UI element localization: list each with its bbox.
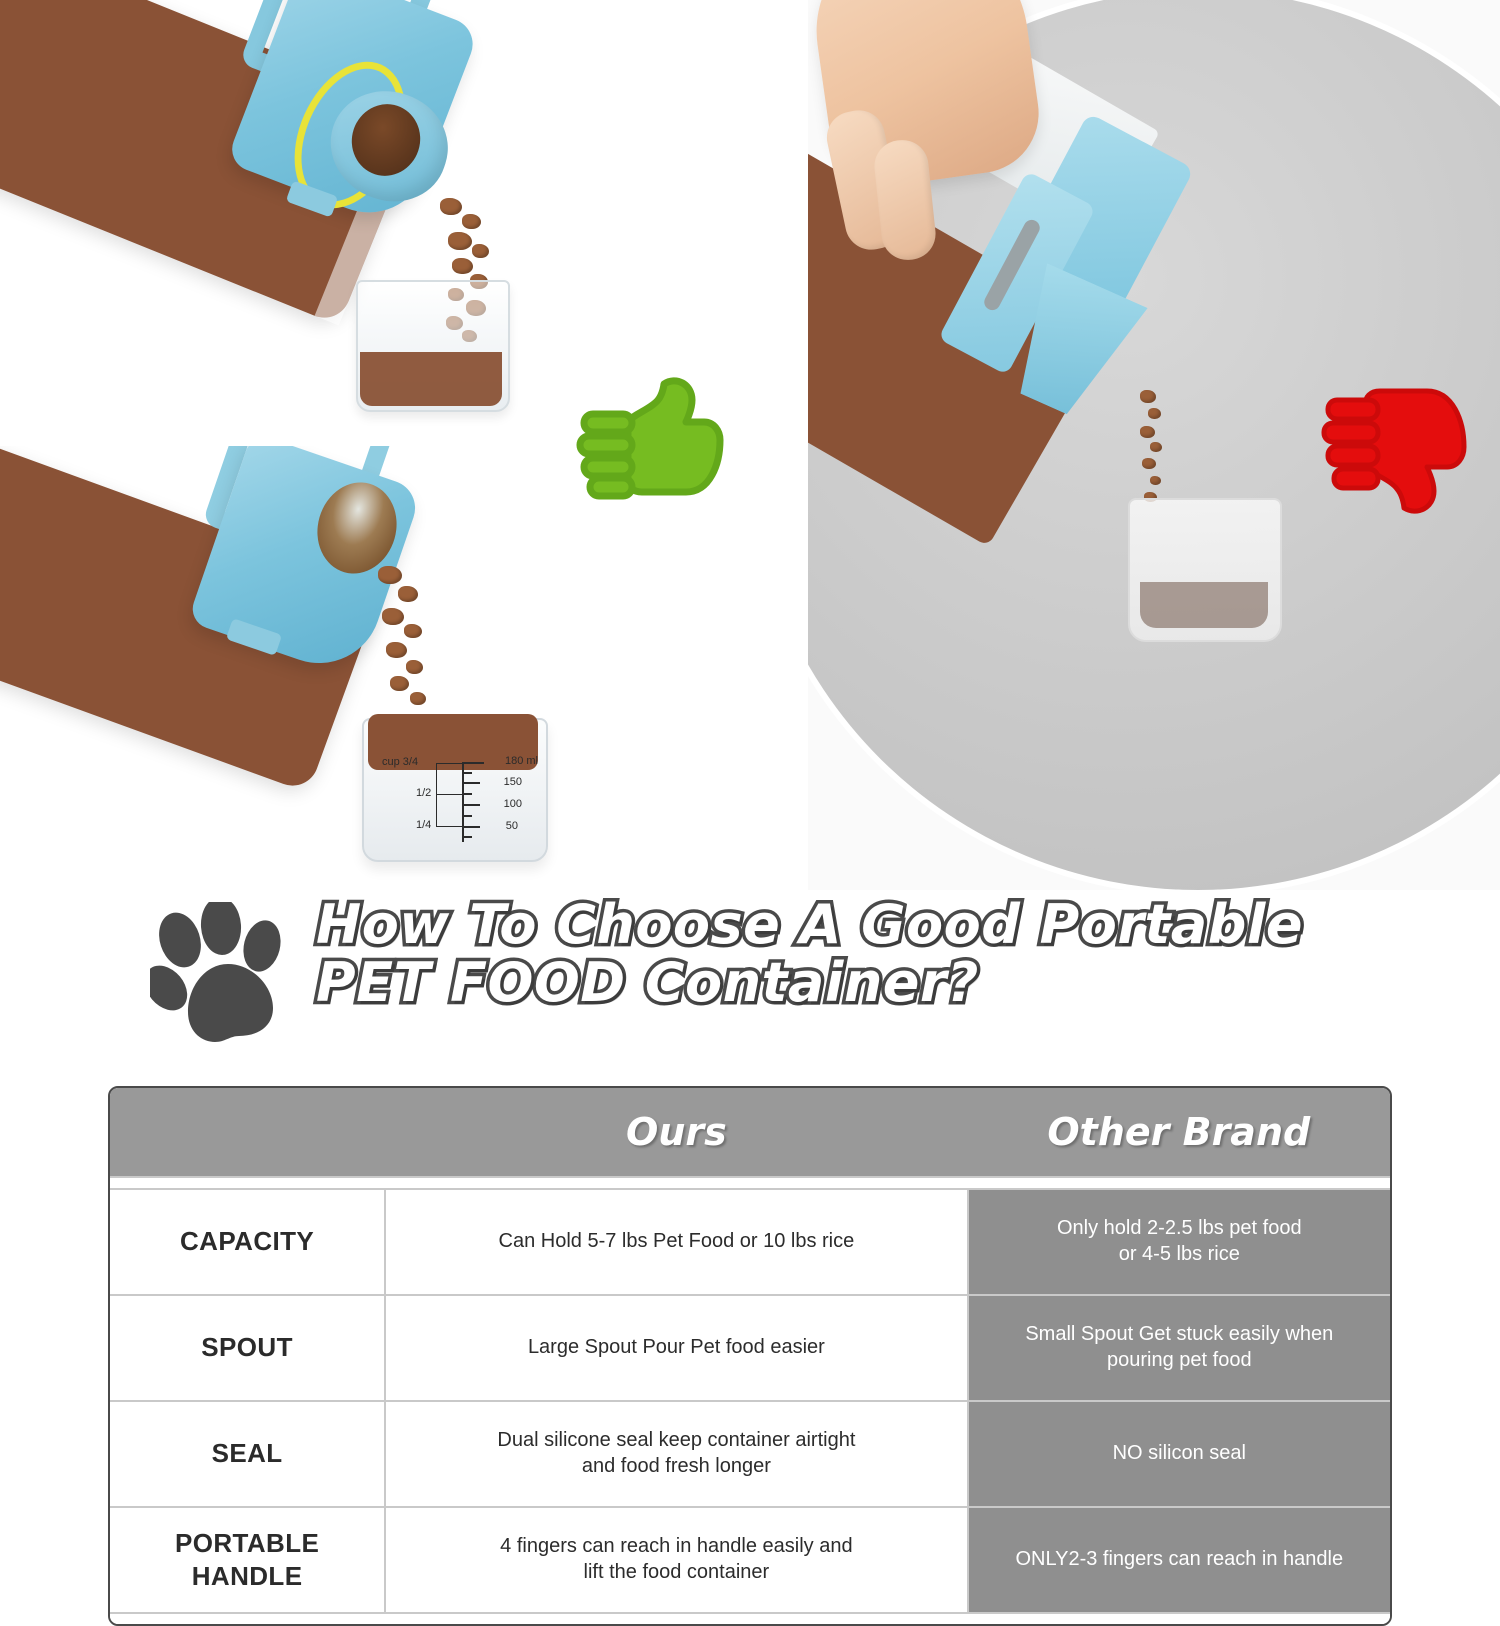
scale-label-180ml: 180 ml <box>505 755 538 767</box>
headline-text: How To Choose A Good Portable PET FOOD C… <box>316 896 1436 1013</box>
row-other-capacity: Only hold 2-2.5 lbs pet foodor 4-5 lbs r… <box>968 1189 1390 1295</box>
measuring-cup-scale: cup 3/4 1/2 1/4 180 ml 150 100 50 <box>388 758 538 846</box>
scale-label-100: 100 <box>504 798 522 810</box>
row-ours-portable-handle: 4 fingers can reach in handle easily and… <box>385 1507 967 1613</box>
paw-print-icon <box>150 902 300 1042</box>
table-row: SEAL Dual silicone seal keep container a… <box>110 1401 1390 1507</box>
row-other-spout: Small Spout Get stuck easily whenpouring… <box>968 1295 1390 1401</box>
table-row: PORTABLEHANDLE 4 fingers can reach in ha… <box>110 1507 1390 1613</box>
scale-label-half: 1/2 <box>416 787 431 799</box>
scale-label-150: 150 <box>504 776 522 788</box>
thumbs-down-icon <box>1318 372 1478 520</box>
row-other-portable-handle: ONLY2-3 fingers can reach in handle <box>968 1507 1390 1613</box>
row-ours-seal: Dual silicone seal keep container airtig… <box>385 1401 967 1507</box>
header-ours: Ours <box>385 1088 967 1177</box>
table-row: SPOUT Large Spout Pour Pet food easier S… <box>110 1295 1390 1401</box>
header-gap <box>110 1177 1390 1189</box>
row-feature-capacity: CAPACITY <box>110 1189 385 1295</box>
thumbs-up-icon <box>572 372 732 502</box>
section-title: How To Choose A Good Portable PET FOOD C… <box>0 892 1500 1072</box>
row-feature-portable-handle: PORTABLEHANDLE <box>110 1507 385 1613</box>
table-row: CAPACITY Can Hold 5-7 lbs Pet Food or 10… <box>110 1189 1390 1295</box>
header-blank <box>110 1088 385 1177</box>
row-feature-seal: SEAL <box>110 1401 385 1507</box>
photo-ours-pouring-into-cup <box>0 0 800 436</box>
row-ours-spout: Large Spout Pour Pet food easier <box>385 1295 967 1401</box>
scale-label-quarter: 1/4 <box>416 819 431 831</box>
panel-divider-vertical <box>790 0 804 890</box>
table-bottom-edge <box>110 1613 1390 1624</box>
cup-kibble <box>360 352 502 406</box>
other-cup-kibble <box>1140 582 1268 628</box>
header-other-brand: Other Brand <box>968 1088 1390 1177</box>
row-ours-capacity: Can Hold 5-7 lbs Pet Food or 10 lbs rice <box>385 1189 967 1295</box>
photo-ours-large-spout-closeup: cup 3/4 1/2 1/4 180 ml 150 100 50 <box>0 446 800 890</box>
scale-label-50: 50 <box>506 820 518 832</box>
scale-label-cup-three-quarter: cup 3/4 <box>382 756 418 768</box>
photo-collage: cup 3/4 1/2 1/4 180 ml 150 100 50 <box>0 0 1500 890</box>
comparison-table: Ours Other Brand CAPACITY Can Hold 5-7 l… <box>108 1086 1392 1626</box>
row-feature-spout: SPOUT <box>110 1295 385 1401</box>
row-other-seal: NO silicon seal <box>968 1401 1390 1507</box>
table-header-row: Ours Other Brand <box>110 1088 1390 1177</box>
